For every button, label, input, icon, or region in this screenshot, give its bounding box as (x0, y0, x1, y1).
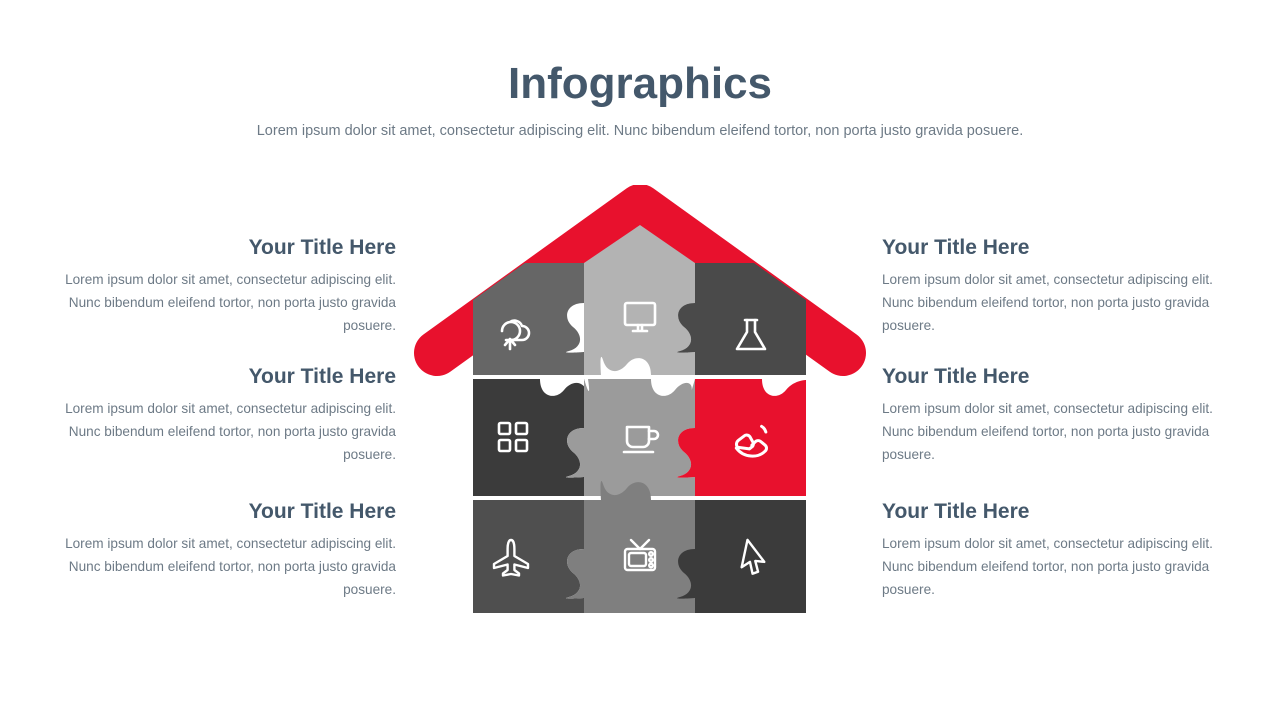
puzzle-piece-middle-center[interactable] (566, 379, 695, 496)
puzzle-piece-top-right[interactable] (677, 263, 806, 375)
text-block-right-3[interactable]: Your Title Here Lorem ipsum dolor sit am… (882, 500, 1248, 602)
text-block-title: Your Title Here (30, 500, 396, 524)
header: Infographics Lorem ipsum dolor sit amet,… (0, 60, 1280, 141)
puzzle-piece-bottom-left[interactable] (473, 500, 584, 613)
page-subtitle: Lorem ipsum dolor sit amet, consectetur … (0, 122, 1280, 141)
puzzle-piece-middle-right[interactable] (677, 379, 806, 496)
puzzle-piece-bottom-center[interactable] (566, 481, 695, 613)
text-block-right-2[interactable]: Your Title Here Lorem ipsum dolor sit am… (882, 365, 1248, 467)
text-block-body: Lorem ipsum dolor sit amet, consectetur … (30, 269, 396, 337)
text-block-right-1[interactable]: Your Title Here Lorem ipsum dolor sit am… (882, 236, 1248, 338)
text-block-title: Your Title Here (882, 365, 1248, 389)
text-block-title: Your Title Here (30, 365, 396, 389)
text-block-body: Lorem ipsum dolor sit amet, consectetur … (30, 398, 396, 466)
text-block-body: Lorem ipsum dolor sit amet, consectetur … (30, 533, 396, 601)
text-block-body: Lorem ipsum dolor sit amet, consectetur … (882, 533, 1248, 601)
text-block-title: Your Title Here (30, 236, 396, 260)
text-block-body: Lorem ipsum dolor sit amet, consectetur … (882, 269, 1248, 337)
text-block-left-1[interactable]: Your Title Here Lorem ipsum dolor sit am… (30, 236, 396, 338)
text-block-left-3[interactable]: Your Title Here Lorem ipsum dolor sit am… (30, 500, 396, 602)
text-block-body: Lorem ipsum dolor sit amet, consectetur … (882, 398, 1248, 466)
text-block-title: Your Title Here (882, 236, 1248, 260)
puzzle-piece-bottom-right[interactable] (677, 500, 806, 613)
slide-canvas: Infographics Lorem ipsum dolor sit amet,… (0, 0, 1280, 720)
text-block-left-2[interactable]: Your Title Here Lorem ipsum dolor sit am… (30, 365, 396, 467)
puzzle-piece-top-left[interactable] (473, 263, 584, 375)
page-title: Infographics (0, 60, 1280, 108)
text-block-title: Your Title Here (882, 500, 1248, 524)
puzzle-house-graphic (405, 185, 875, 630)
